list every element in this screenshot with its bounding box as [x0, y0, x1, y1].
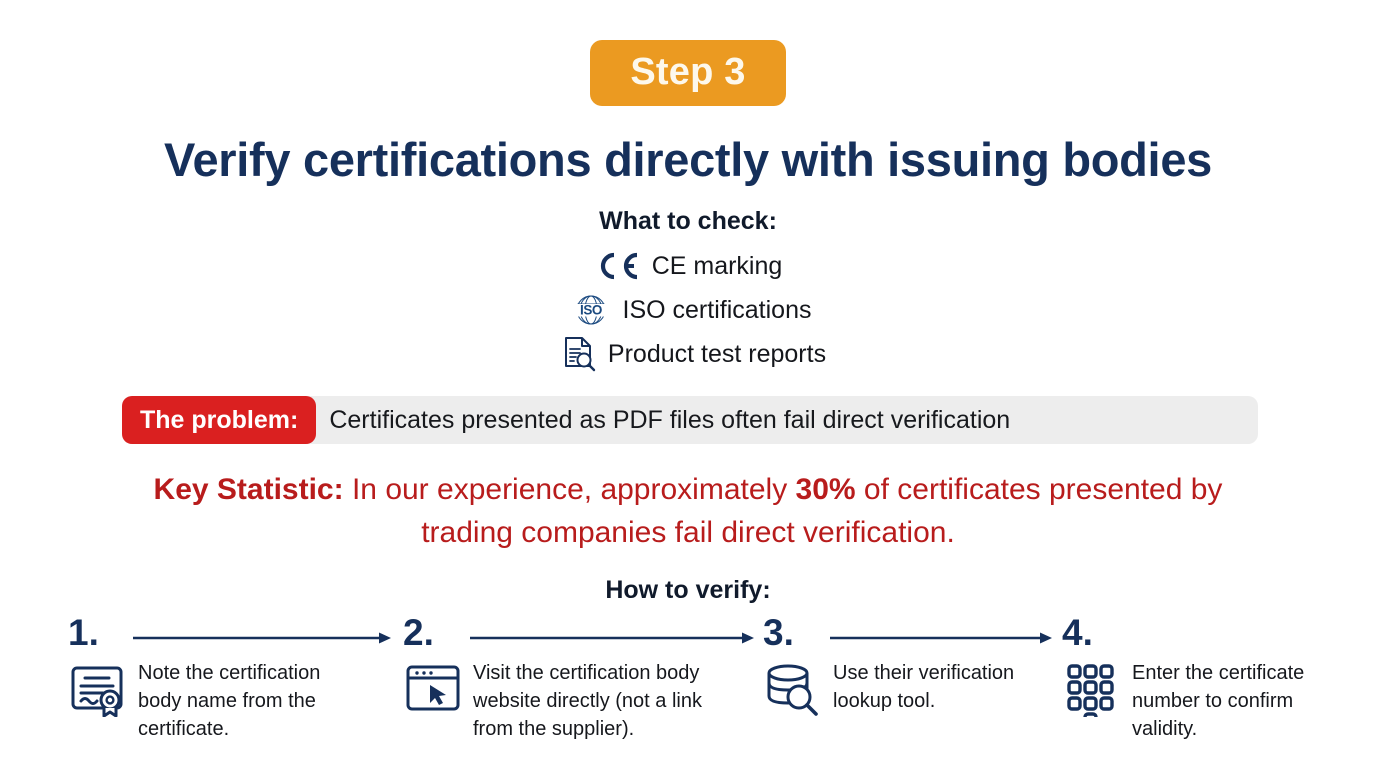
ce-marking-icon [594, 251, 640, 281]
step-text: Enter the certificate number to confirm … [1132, 659, 1352, 743]
step-column-2: 2. Visit the certification body website … [403, 614, 743, 743]
check-item-label: Product test reports [608, 342, 826, 367]
problem-tag: The problem: [122, 396, 316, 444]
certificate-icon [68, 659, 128, 717]
problem-banner: The problem: Certificates presented as P… [122, 396, 1258, 444]
check-item-ce: CE marking [594, 246, 783, 286]
what-to-check-list: CE marking ISO ISO certifications [0, 246, 1376, 374]
database-search-icon [763, 659, 823, 717]
step-number: 2. [403, 614, 743, 651]
step-number: 4. [1062, 614, 1352, 651]
check-item-test-reports: Product test reports [550, 334, 826, 374]
svg-text:ISO: ISO [579, 303, 601, 318]
step-column-3: 3. Use their verification lookup tool. [763, 614, 1043, 717]
check-item-iso: ISO ISO certifications [565, 290, 812, 330]
check-item-label: ISO certifications [623, 298, 812, 323]
step-column-4: 4. En [1062, 614, 1352, 743]
document-search-icon [550, 336, 596, 372]
key-statistic-lead: Key Statistic: [154, 473, 344, 506]
how-to-verify-steps: 1. Note the certification body name from… [0, 614, 1376, 764]
key-statistic-part1: In our experience, approximately [344, 473, 796, 506]
key-statistic: Key Statistic: In our experience, approx… [0, 468, 1376, 554]
step-number: 1. [68, 614, 368, 651]
step-badge: Step 3 [590, 40, 785, 106]
step-number: 3. [763, 614, 1043, 651]
how-to-verify-heading: How to verify: [0, 578, 1376, 603]
page-title: Verify certifications directly with issu… [0, 136, 1376, 183]
browser-cursor-icon [403, 659, 463, 713]
iso-logo-icon: ISO [565, 292, 611, 328]
key-statistic-highlight: 30% [796, 473, 856, 506]
step-column-1: 1. Note the certification body name from… [68, 614, 368, 743]
step-text: Visit the certification body website dir… [473, 659, 743, 743]
what-to-check-heading: What to check: [0, 209, 1376, 234]
keypad-icon [1062, 659, 1122, 717]
check-item-label: CE marking [652, 254, 783, 279]
step-text: Use their verification lookup tool. [833, 659, 1043, 715]
problem-text: Certificates presented as PDF files ofte… [329, 408, 1010, 433]
step-text: Note the certification body name from th… [138, 659, 368, 743]
step-badge-container: Step 3 [0, 0, 1376, 106]
